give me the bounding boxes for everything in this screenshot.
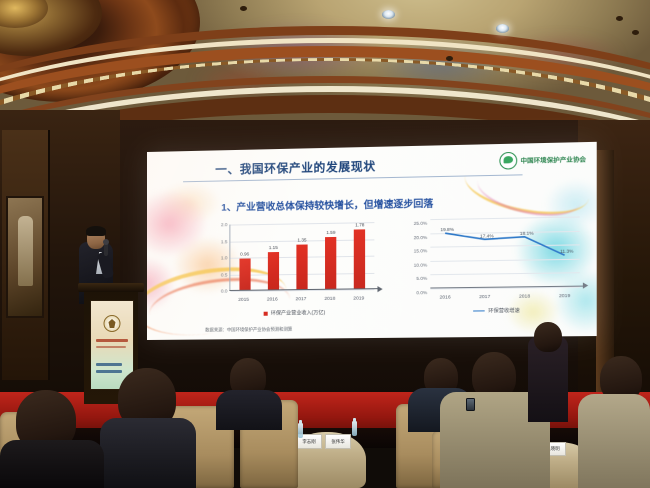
slide-title: 一、我国环保产业的发展现状	[215, 158, 376, 178]
y-axis-tick-label: 2.0	[209, 222, 227, 227]
person-shoulders	[578, 394, 650, 488]
wall-artwork	[6, 196, 44, 318]
x-axis-tick-label: 2019	[559, 294, 570, 299]
bar-value-label: 1.78	[355, 223, 364, 228]
water-bottle	[298, 423, 303, 438]
recessed-light-fixture	[616, 16, 623, 21]
person-shoulders	[0, 440, 104, 488]
recessed-light-fixture	[240, 6, 247, 11]
data-point-label: 18.1%	[520, 230, 534, 235]
recessed-light-fixture	[632, 30, 639, 35]
y-axis-tick-label: 0.5	[209, 272, 227, 277]
bar	[325, 236, 336, 289]
water-bottle	[352, 421, 357, 436]
bar	[296, 245, 307, 290]
bar-chart-plot-area: 0.961.151.351.591.78	[229, 222, 374, 291]
wall-artwork-figure	[18, 216, 33, 286]
bar	[268, 252, 279, 290]
line-chart-legend: 环保营收增速	[474, 307, 520, 315]
source-note: 数据来源：中国环境保护产业协会预测和测算	[205, 327, 292, 334]
y-axis-tick-label: 20.0%	[403, 235, 427, 240]
legend-line-swatch	[474, 310, 486, 312]
line-chart-plot-area: 0.0%5.0%10.0%15.0%20.0%25.0%19.8%17.4%18…	[430, 216, 579, 288]
recessed-light-fixture	[496, 24, 509, 33]
data-point-label: 17.4%	[480, 233, 494, 238]
legend-label: 环保产业营业收入(万亿)	[271, 309, 325, 317]
bar	[354, 230, 365, 290]
podium-banner-text-line	[96, 363, 122, 366]
y-axis-tick-label: 0.0	[209, 288, 227, 293]
association-logo-text: 中国环境保护产业协会	[521, 154, 587, 165]
podium-banner-text-line	[96, 339, 128, 342]
x-axis-tick-label: 2016	[267, 297, 278, 302]
slide-subtitle: 1、产业营收总体保持较快增长，但增速逐步回落	[221, 196, 433, 214]
gridline	[230, 222, 374, 225]
x-axis-tick-label: 2019	[353, 296, 364, 301]
x-axis-tick-label: 2017	[479, 295, 490, 300]
y-axis-tick-label: 5.0%	[403, 276, 427, 281]
data-point-label: 11.3%	[560, 249, 573, 254]
speaker-hair	[86, 226, 106, 236]
person-head	[534, 322, 562, 352]
projection-screen: 一、我国环保产业的发展现状 中国环境保护产业协会 1、产业营收总体保持较快增长，…	[147, 142, 597, 340]
bar-value-label: 0.96	[240, 252, 249, 257]
name-card: 张伟华	[325, 434, 351, 449]
person-shoulders	[100, 418, 196, 488]
podium-top-surface	[78, 283, 144, 292]
bar-chart-legend: 环保产业营业收入(万亿)	[264, 309, 326, 317]
revenue-bar-chart: 0.961.151.351.591.78 环保产业营业收入(万亿) 0.00.5…	[209, 218, 380, 313]
legend-label: 环保营收增速	[488, 307, 520, 315]
data-point-label: 19.8%	[440, 227, 454, 232]
person-shoulders	[216, 390, 282, 430]
x-axis-tick-label: 2018	[324, 297, 335, 302]
bar-value-label: 1.15	[269, 245, 278, 250]
recessed-light-fixture	[382, 10, 395, 19]
y-axis-tick-label: 1.0	[209, 255, 227, 260]
recessed-light-fixture	[446, 56, 453, 61]
x-axis-tick-label: 2017	[296, 297, 307, 302]
bar	[239, 259, 250, 291]
smartphone	[466, 398, 475, 411]
growth-rate-line-chart: 0.0%5.0%10.0%15.0%20.0%25.0%19.8%17.4%18…	[403, 212, 584, 313]
leaf-logo-icon	[499, 152, 517, 170]
legend-swatch	[264, 311, 268, 315]
podium-seal-icon	[104, 315, 121, 332]
y-axis-tick-label: 1.5	[209, 239, 227, 244]
y-axis-tick-label: 15.0%	[403, 248, 427, 253]
podium-banner-text-line	[96, 370, 122, 373]
bar-value-label: 1.35	[297, 238, 306, 243]
y-axis-tick-label: 10.0%	[403, 262, 427, 267]
y-axis-tick-label: 0.0%	[403, 290, 427, 295]
podium-banner-text-line	[96, 346, 126, 348]
x-axis-tick-label: 2016	[440, 295, 451, 300]
x-axis-tick-label: 2015	[238, 298, 249, 303]
microphone	[104, 243, 108, 256]
x-axis-tick-label: 2018	[519, 294, 530, 299]
conference-photo-scene: 一、我国环保产业的发展现状 中国环境保护产业协会 1、产业营收总体保持较快增长，…	[0, 0, 650, 488]
y-axis-tick-label: 25.0%	[403, 221, 427, 227]
association-logo: 中国环境保护产业协会	[499, 150, 586, 169]
bar-value-label: 1.59	[326, 229, 335, 234]
